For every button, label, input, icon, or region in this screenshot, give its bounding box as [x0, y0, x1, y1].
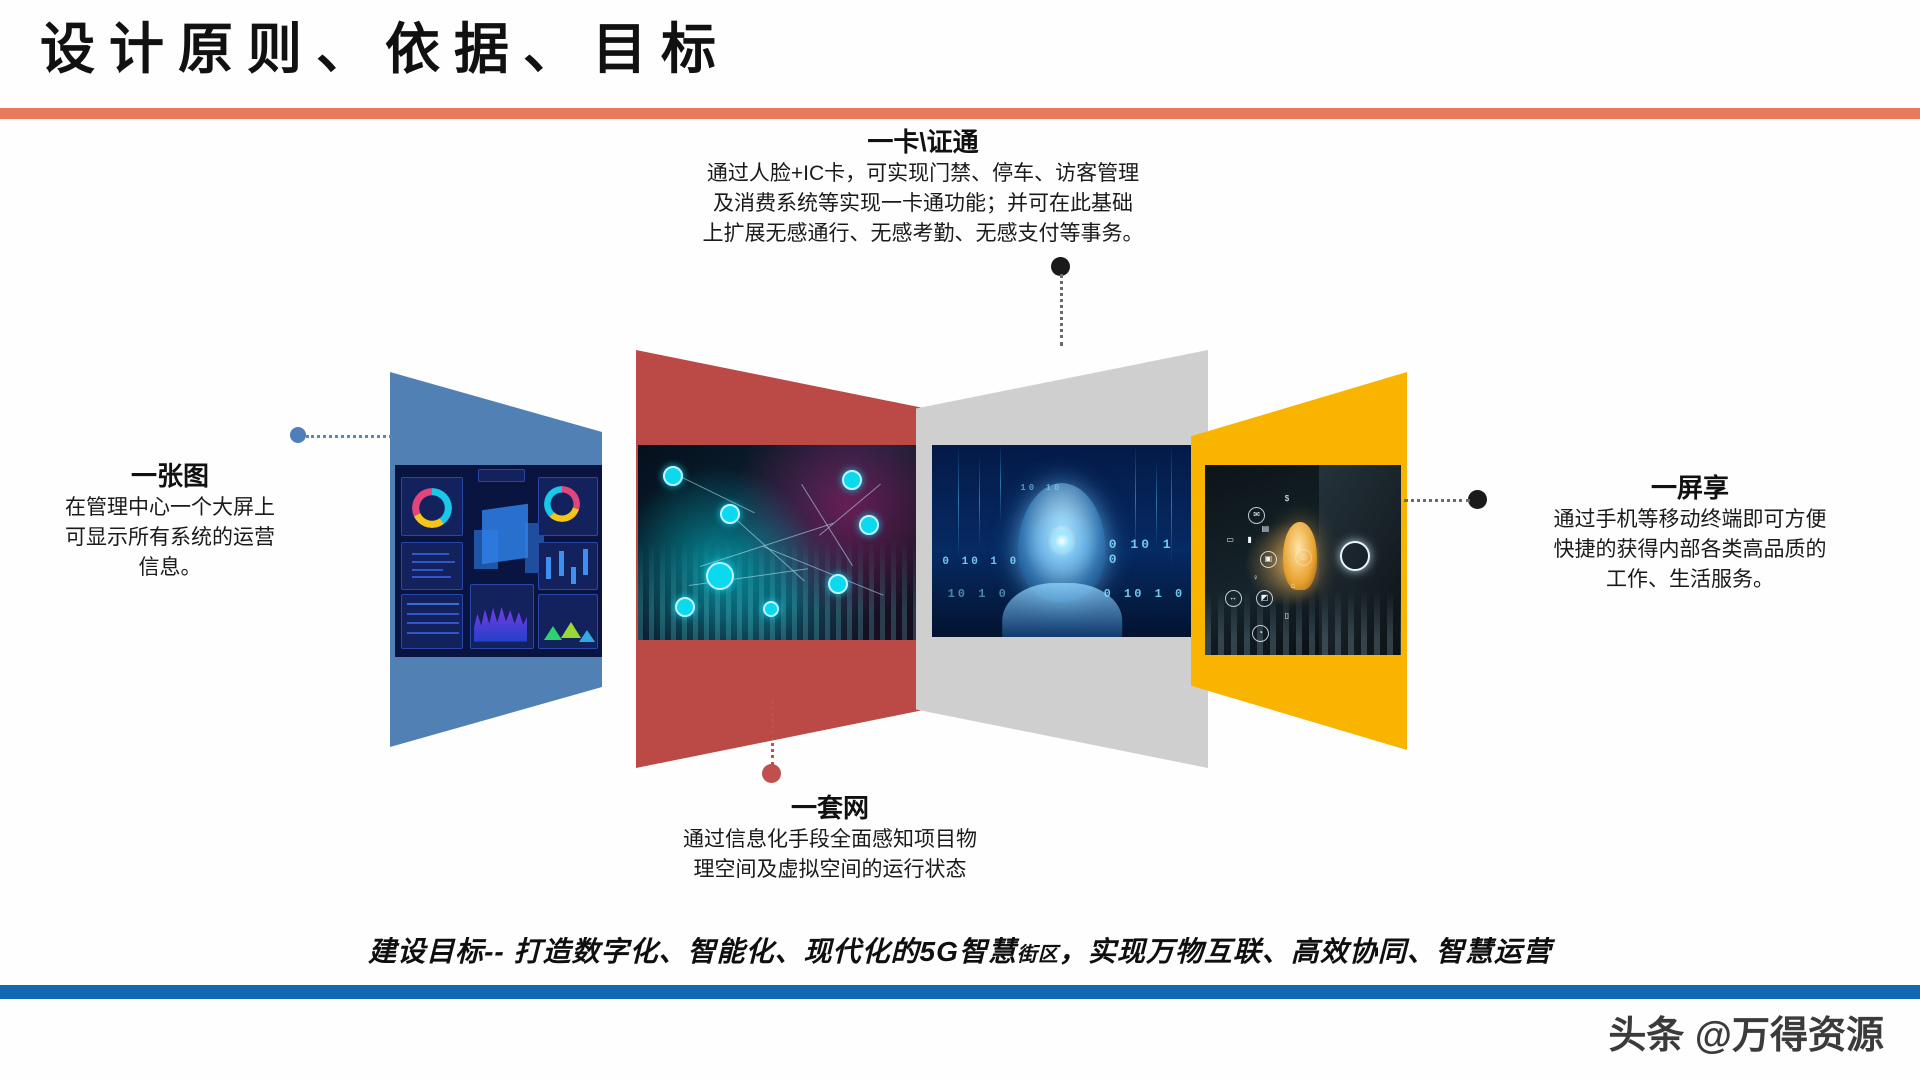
- footer-divider-rule: [0, 985, 1920, 999]
- callout-left-leader: [306, 435, 392, 438]
- callout-bottom-leader: [771, 700, 774, 766]
- callout-bottom-title: 一套网: [560, 792, 1100, 825]
- callout-one-screen-share: 一屏享 通过手机等移动终端即可方便 快捷的获得内部各类高品质的 工作、生活服务。: [1490, 472, 1890, 596]
- callout-right-leader: [1404, 499, 1470, 502]
- goal-suffix-text: ，实现万物互联、高效协同、智慧运营: [1059, 936, 1552, 967]
- goal-prefix-text: 建设目标-- 打造数字化、智能化、现代化的5G智慧: [368, 936, 1017, 967]
- callout-bottom-dot: [762, 764, 781, 783]
- watermark-label: 头条 @万得资源: [1608, 1004, 1884, 1059]
- callout-right-dot: [1468, 490, 1487, 509]
- goal-small-text: 街区: [1017, 944, 1059, 966]
- gray-ai-panel[interactable]: 0 10 1 0 0 10 1 0 0 10 1 0 10 1 0 10 10: [916, 350, 1208, 768]
- callout-left-title: 一张图: [20, 460, 320, 493]
- yellow-mobile-panel[interactable]: ✉ $ ▭ ▮ ▤ ▣ ♀ ↔ ◩ ⌂ ▯ ◔ ◎: [1191, 372, 1407, 750]
- blue-dashboard-panel[interactable]: [390, 372, 602, 747]
- callout-bottom-body: 通过信息化手段全面感知项目物 理空间及虚拟空间的运行状态: [560, 825, 1100, 886]
- goal-statement-banner: 建设目标-- 打造数字化、智能化、现代化的5G智慧街区，实现万物互联、高效协同、…: [0, 930, 1920, 970]
- callout-right-title: 一屏享: [1490, 472, 1890, 505]
- callout-right-body: 通过手机等移动终端即可方便 快捷的获得内部各类高品质的 工作、生活服务。: [1490, 505, 1890, 596]
- operations-dashboard-image: [395, 465, 602, 657]
- callout-one-map: 一张图 在管理中心一个大屏上 可显示所有系统的运营 信息。: [20, 460, 320, 584]
- callout-top-body: 通过人脸+IC卡，可实现门禁、停车、访客管理 及消费系统等实现一卡通功能；并可在…: [658, 159, 1188, 250]
- callout-left-dot: [290, 427, 306, 443]
- callout-top-title: 一卡\证通: [658, 126, 1188, 159]
- slide-canvas: 设计原则、依据、目标: [0, 0, 1920, 1080]
- callout-top-leader: [1060, 274, 1063, 346]
- mobile-iot-hand-image: ✉ $ ▭ ▮ ▤ ▣ ♀ ↔ ◩ ⌂ ▯ ◔ ◎: [1205, 465, 1401, 655]
- ai-digital-head-image: 0 10 1 0 0 10 1 0 0 10 1 0 10 1 0 10 10: [932, 445, 1192, 637]
- red-network-panel[interactable]: [636, 350, 926, 768]
- callout-left-body: 在管理中心一个大屏上 可显示所有系统的运营 信息。: [20, 493, 320, 584]
- smart-city-network-image: [638, 445, 921, 640]
- callout-one-network: 一套网 通过信息化手段全面感知项目物 理空间及虚拟空间的运行状态: [560, 792, 1100, 885]
- callout-one-card-pass: 一卡\证通 通过人脸+IC卡，可实现门禁、停车、访客管理 及消费系统等实现一卡通…: [658, 126, 1188, 250]
